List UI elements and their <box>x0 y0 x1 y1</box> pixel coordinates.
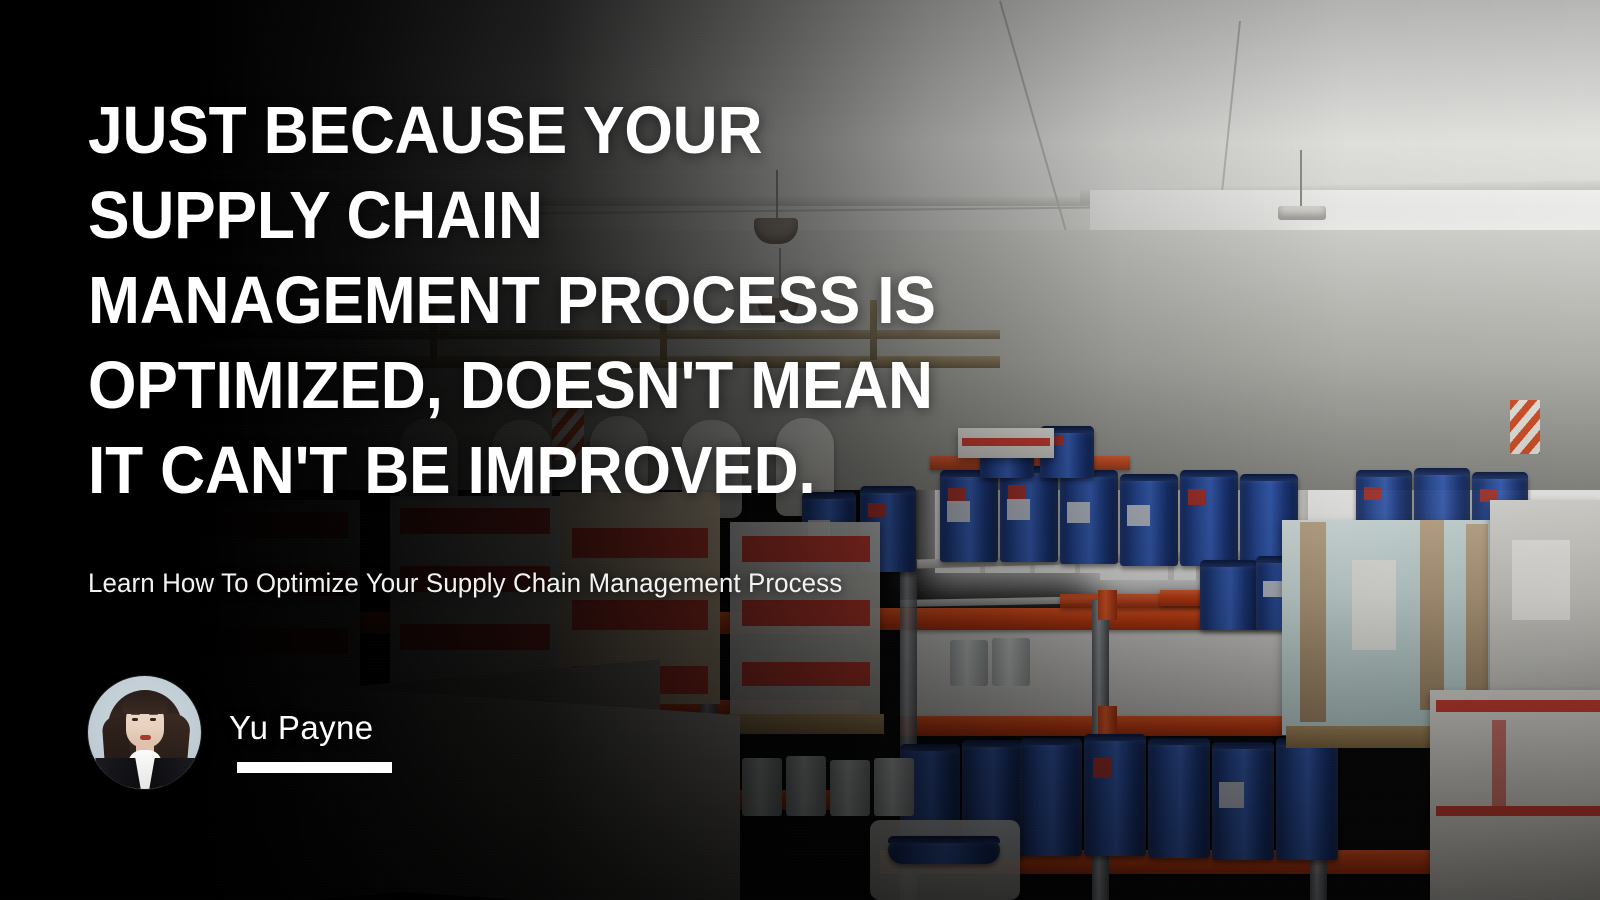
avatar-eyebrow-icon <box>131 713 140 715</box>
author-name: Yu Payne <box>229 708 373 748</box>
subtitle-text: Learn How To Optimize Your Supply Chain … <box>88 566 842 600</box>
avatar-eye-icon <box>132 718 138 721</box>
headline-text: JUST BECAUSE YOUR SUPPLY CHAIN MANAGEMEN… <box>88 88 1092 513</box>
avatar-blazer-right-icon <box>149 758 196 789</box>
avatar-fringe-icon <box>122 694 168 714</box>
avatar-lips-icon <box>140 735 151 740</box>
author-underline-rule <box>237 762 392 773</box>
promo-banner: JUST BECAUSE YOUR SUPPLY CHAIN MANAGEMEN… <box>0 0 1600 900</box>
avatar <box>88 676 201 789</box>
avatar-blazer-left-icon <box>95 758 140 789</box>
avatar-eyebrow-icon <box>149 713 158 715</box>
avatar-eye-icon <box>150 718 156 721</box>
banner-content: JUST BECAUSE YOUR SUPPLY CHAIN MANAGEMEN… <box>0 0 1600 900</box>
